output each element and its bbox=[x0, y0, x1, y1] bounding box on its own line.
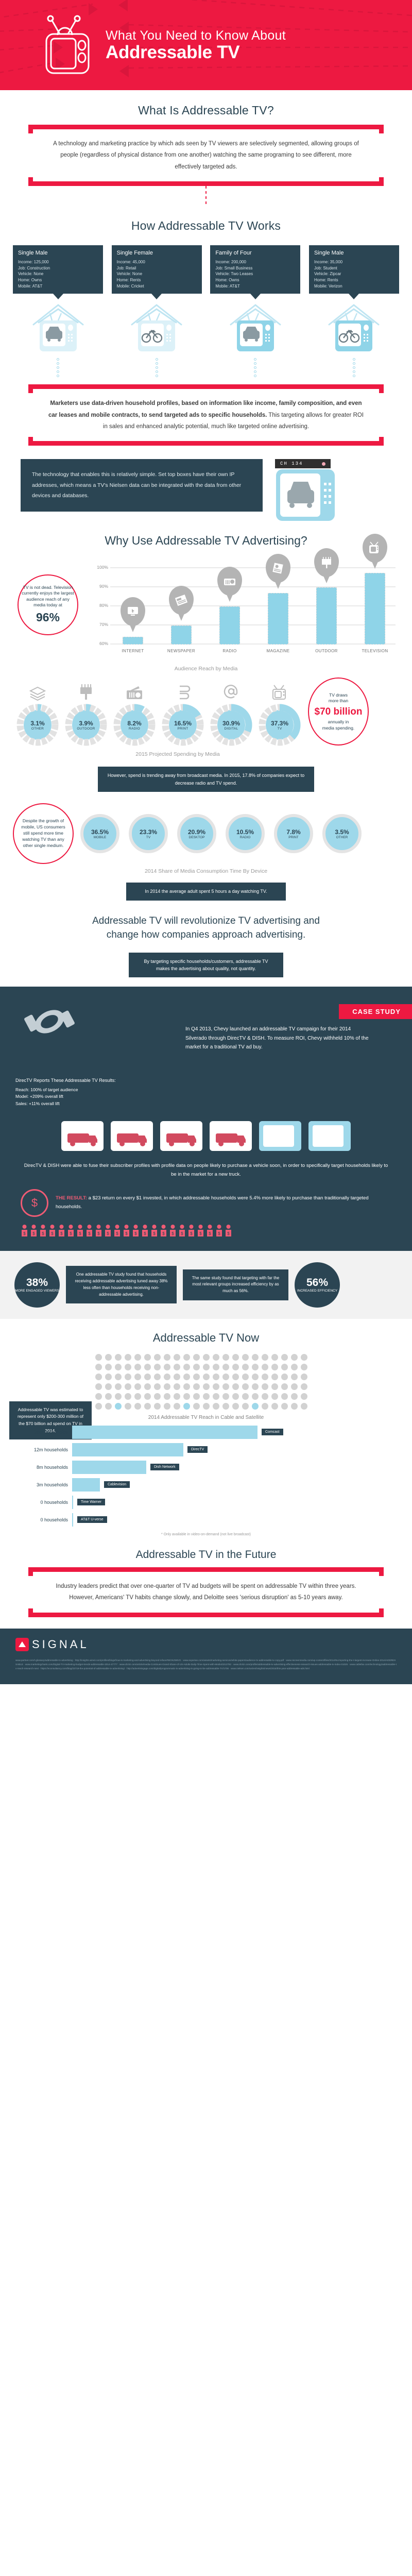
page-footer: SIGNAL www.partner.com/t-glossary/addres… bbox=[0, 1629, 412, 1684]
directv-reach: Reach: 100% of target audience bbox=[15, 1087, 185, 1094]
tv-with-truck-icon bbox=[60, 1120, 105, 1152]
dollar-person-icon: $ bbox=[225, 1224, 232, 1236]
dollar-person-icon: $ bbox=[141, 1224, 149, 1236]
donut-outdoor: 3.9%OUTDOOR bbox=[63, 677, 109, 746]
magazine-icon bbox=[266, 554, 290, 583]
efficiency-label: INCREASED EFFICIENCY bbox=[297, 1289, 337, 1293]
profile-vehicle: Vehicle: Zipcar bbox=[314, 271, 394, 277]
hbar-row: 0 households Time Warner bbox=[15, 1494, 397, 1511]
hbar-label: 0 households bbox=[15, 1517, 72, 1522]
why-section-title: Why Use Addressable TV Advertising? bbox=[0, 527, 412, 548]
svg-text:$: $ bbox=[23, 1231, 26, 1236]
marketers-bracket: Marketers use data-driven household prof… bbox=[28, 384, 384, 446]
donut-ring: 3.1%OTHER bbox=[16, 704, 59, 746]
tv-draws-line1: TV draws bbox=[329, 692, 348, 698]
brand-name: SIGNAL bbox=[32, 1638, 89, 1651]
dollar-cycle-icon: $ bbox=[21, 1189, 48, 1217]
retro-tv-icon bbox=[40, 14, 94, 76]
newspaper-icon bbox=[169, 586, 194, 615]
hbar-label: 8m households bbox=[15, 1465, 72, 1470]
directv-sales: Sales: +11% overall lift bbox=[15, 1100, 185, 1108]
hbar-row: 20m households Comcast bbox=[15, 1423, 397, 1441]
dollar-person-icon: $ bbox=[85, 1224, 93, 1236]
dollar-person-icon: $ bbox=[48, 1224, 56, 1236]
layers-icon bbox=[29, 677, 46, 701]
svg-text:$: $ bbox=[60, 1231, 63, 1236]
engaged-viewers-stat: 38% MORE ENGAGED VIEWERS bbox=[14, 1262, 60, 1308]
bar-television bbox=[365, 573, 385, 645]
svg-text:$: $ bbox=[181, 1231, 183, 1236]
decrease-spend-note: However, spend is trending away from bro… bbox=[98, 767, 314, 792]
hbar-label: 12m households bbox=[15, 1447, 72, 1452]
donut-ring: 37.3%TV bbox=[259, 704, 301, 746]
share-mobile: 36.5%MOBILE bbox=[78, 814, 122, 853]
share-value: 3.5% bbox=[335, 828, 349, 836]
bar-outdoor bbox=[316, 587, 337, 645]
donut-digital: 30.9%DIGITAL bbox=[208, 677, 254, 746]
dollar-person-icon: $ bbox=[215, 1224, 223, 1236]
tv-draws-line3: annually in bbox=[328, 719, 349, 725]
engaged-pct: 38% bbox=[26, 1277, 48, 1289]
household-card: Single Male Income: 125,000 Job: Constru… bbox=[13, 245, 103, 377]
share-value: 20.9% bbox=[188, 828, 205, 836]
billboard-icon bbox=[77, 677, 95, 701]
tv-draws-callout: TV draws more than $70 billion annually … bbox=[308, 677, 369, 745]
efficiency-note-left: One addressable TV study found that hous… bbox=[66, 1266, 177, 1303]
profile-job: Job: Construction bbox=[18, 265, 98, 272]
share-label: PRINT bbox=[288, 836, 299, 839]
bar-plot-area: 100% 90% 80% 70% 60% bbox=[93, 567, 396, 645]
tv-with-car-icon bbox=[275, 468, 336, 524]
svg-text:$: $ bbox=[125, 1231, 128, 1236]
profile-mobile: Mobile: AT&T bbox=[215, 283, 295, 290]
dollar-person-icon: $ bbox=[76, 1224, 84, 1236]
dollar-person-icon: $ bbox=[67, 1224, 75, 1236]
dollar-person-icon: $ bbox=[160, 1224, 167, 1236]
directv-model: Model: +209% overall lift bbox=[15, 1093, 185, 1100]
print-icon bbox=[175, 677, 191, 701]
hbar-fill bbox=[72, 1513, 73, 1527]
channel-label: CH 134 bbox=[280, 461, 303, 466]
result-text: THE RESULT: a $23 return on every $1 inv… bbox=[56, 1194, 391, 1211]
audience-reach-chart: TV is not dead. Television currently enj… bbox=[10, 553, 402, 664]
engaged-label: MORE ENGAGED VIEWERS bbox=[15, 1289, 59, 1293]
tv-with-truck-icon bbox=[110, 1120, 154, 1152]
hbar-row: 3m households Cablevision bbox=[15, 1476, 397, 1494]
y-tick-90: 90% bbox=[93, 584, 108, 589]
hbar-fill bbox=[72, 1461, 146, 1474]
svg-text:$: $ bbox=[134, 1231, 137, 1236]
profile-income: Income: 35,000 bbox=[314, 259, 394, 265]
media-consumption-row: Despite the growth of mobile, US consume… bbox=[0, 792, 412, 864]
dollar-person-icon: $ bbox=[150, 1224, 158, 1236]
dollar-person-icon: $ bbox=[197, 1224, 204, 1236]
svg-text:$: $ bbox=[162, 1231, 165, 1236]
household-profile: Single Male Income: 35,000 Job: Student … bbox=[309, 245, 399, 294]
result-row: $ THE RESULT: a $23 return on every $1 i… bbox=[0, 1179, 412, 1217]
signal-dots bbox=[254, 358, 256, 377]
tech-callout: The technology that enables this is rela… bbox=[21, 459, 263, 511]
svg-text:$: $ bbox=[209, 1231, 211, 1236]
tv-draws-value: $70 billion bbox=[315, 705, 363, 719]
dollar-person-icon: $ bbox=[187, 1224, 195, 1236]
share-label: MOBILE bbox=[94, 836, 107, 839]
hbar-provider: Comcast bbox=[262, 1429, 283, 1435]
svg-text:$: $ bbox=[51, 1231, 54, 1236]
y-tick-60: 60% bbox=[93, 641, 108, 646]
tv-with-truck-icon bbox=[209, 1120, 253, 1152]
dollar-person-icon: $ bbox=[206, 1224, 214, 1236]
tv-blank-icon bbox=[258, 1120, 302, 1152]
future-title: Addressable TV in the Future bbox=[0, 1536, 412, 1564]
page-header: What You Need to Know About Addressable … bbox=[0, 0, 412, 90]
what-is-body: A technology and marketing practice by w… bbox=[44, 135, 368, 176]
svg-text:$: $ bbox=[144, 1231, 146, 1236]
profile-job: Job: Student bbox=[314, 265, 394, 272]
spend-caption: 2015 Projected Spending by Media bbox=[0, 751, 412, 757]
y-tick-80: 80% bbox=[93, 603, 108, 608]
profile-income: Income: 200,000 bbox=[215, 259, 295, 265]
svg-text:$: $ bbox=[199, 1231, 202, 1236]
x-label-magazine: MAGAZINE bbox=[260, 649, 296, 653]
hbar-label: 3m households bbox=[15, 1482, 72, 1487]
efficiency-band: 38% MORE ENGAGED VIEWERS One addressable… bbox=[0, 1251, 412, 1319]
x-label-outdoor: OUTDOOR bbox=[308, 649, 345, 653]
profile-mobile: Mobile: Verizon bbox=[314, 283, 394, 290]
hbar-fill bbox=[72, 1443, 183, 1456]
bar-radio bbox=[219, 606, 240, 645]
bar-newspaper bbox=[171, 625, 192, 645]
svg-text:$: $ bbox=[153, 1231, 156, 1236]
mobile-growth-callout: Despite the growth of mobile, US consume… bbox=[13, 803, 74, 864]
hbar-row: 0 households AT&T U-verse bbox=[15, 1511, 397, 1529]
svg-text:$: $ bbox=[107, 1231, 109, 1236]
share-value: 36.5% bbox=[91, 828, 109, 836]
profile-name: Single Female bbox=[117, 249, 197, 258]
profile-name: Family of Four bbox=[215, 249, 295, 258]
result-head: THE RESULT: bbox=[56, 1195, 87, 1201]
statement-sub-note: By targeting specific households/custome… bbox=[129, 953, 283, 978]
what-is-bracket: A technology and marketing practice by w… bbox=[28, 125, 384, 186]
record-dot-icon bbox=[322, 462, 325, 466]
donut-other: 3.1%OTHER bbox=[14, 677, 61, 746]
dollar-person-icon: $ bbox=[104, 1224, 112, 1236]
house-with-tv-icon bbox=[225, 302, 286, 356]
case-study-section: CASE STUDY DirecTV Reports These Address… bbox=[0, 987, 412, 1250]
how-works-title: How Addressable TV Works bbox=[0, 206, 412, 240]
case-study-body: In Q4 2013, Chevy launched an addressabl… bbox=[185, 1025, 371, 1107]
tv-with-truck-icon bbox=[159, 1120, 203, 1152]
header-subtitle: What You Need to Know About bbox=[106, 28, 286, 43]
share-label: RADIO bbox=[240, 836, 251, 839]
share-desktop: 20.9%DESKTOP bbox=[175, 814, 219, 853]
hbar-provider: Cablevision bbox=[104, 1481, 130, 1488]
profile-home: Home: Owns bbox=[215, 277, 295, 283]
reach-bar-chart: 20m households Comcast 12m households Di… bbox=[15, 1423, 397, 1536]
household-card: Family of Four Income: 200,000 Job: Smal… bbox=[210, 245, 300, 377]
case-study-caption: DirecTV & DISH were able to fuse their s… bbox=[0, 1152, 412, 1179]
hbar-label: 20m households bbox=[15, 1430, 72, 1435]
at-sign-icon bbox=[222, 677, 240, 701]
reach-chart-footnote: * Only available in video-on-demand (not… bbox=[15, 1529, 397, 1536]
share-tv: 23.3%TV bbox=[126, 814, 170, 853]
profile-income: Income: 125,000 bbox=[18, 259, 98, 265]
tv-blank-icon bbox=[307, 1120, 352, 1152]
house-with-tv-icon bbox=[323, 302, 385, 356]
infographic-page: What You Need to Know About Addressable … bbox=[0, 0, 412, 1684]
big-statement: Addressable TV will revolutionize TV adv… bbox=[0, 901, 412, 947]
signal-dots bbox=[156, 358, 158, 377]
svg-text:$: $ bbox=[97, 1231, 100, 1236]
household-profile: Family of Four Income: 200,000 Job: Smal… bbox=[210, 245, 300, 294]
dollar-person-icon: $ bbox=[30, 1224, 38, 1236]
tv-row bbox=[0, 1108, 412, 1152]
house-with-tv-icon bbox=[27, 302, 89, 356]
profile-vehicle: Vehicle: None bbox=[117, 271, 197, 277]
hbar-fill bbox=[72, 1478, 100, 1492]
directv-results: DirecTV Reports These Addressable TV Res… bbox=[15, 1077, 185, 1107]
svg-text:$: $ bbox=[88, 1231, 91, 1236]
avg-adult-note: In 2014 the average adult spent 5 hours … bbox=[126, 883, 286, 900]
computer-icon bbox=[121, 597, 145, 626]
hbar-row: 12m households DirecTV bbox=[15, 1441, 397, 1459]
profile-mobile: Mobile: AT&T bbox=[18, 283, 98, 290]
share-label: TV bbox=[146, 836, 150, 839]
tech-section: The technology that enables this is rela… bbox=[21, 459, 391, 527]
future-bracket: Industry leaders predict that over one-q… bbox=[28, 1567, 384, 1617]
profile-mobile: Mobile: Cricket bbox=[117, 283, 197, 290]
profile-income: Income: 45,000 bbox=[117, 259, 197, 265]
connector-dash bbox=[205, 186, 207, 206]
case-study-tag: CASE STUDY bbox=[339, 1004, 412, 1019]
donut-ring: 30.9%DIGITAL bbox=[210, 704, 252, 746]
television-icon bbox=[271, 677, 288, 701]
svg-text:$: $ bbox=[171, 1231, 174, 1236]
tv-draws-line4: media spending. bbox=[322, 725, 354, 731]
household-profile: Single Female Income: 45,000 Job: Retail… bbox=[112, 245, 202, 294]
svg-text:$: $ bbox=[70, 1231, 72, 1236]
tech-body: The technology that enables this is rela… bbox=[32, 471, 241, 499]
now-title: Addressable TV Now bbox=[0, 1319, 412, 1349]
profile-job: Job: Small Business bbox=[215, 265, 295, 272]
satellite-icon bbox=[15, 998, 93, 1045]
share-print: 7.8%PRINT bbox=[271, 814, 316, 853]
dollar-person-icon: $ bbox=[95, 1224, 102, 1236]
hbar-provider: DirecTV bbox=[187, 1446, 208, 1453]
billboard-icon bbox=[314, 548, 339, 577]
y-tick-100: 100% bbox=[93, 565, 108, 570]
radio-icon bbox=[125, 677, 144, 701]
dollar-person-icon: $ bbox=[132, 1224, 140, 1236]
profile-home: Home: Rents bbox=[117, 277, 197, 283]
donut-radio: 8.2%RADIO bbox=[111, 677, 158, 746]
hbar-provider: AT&T U-verse bbox=[77, 1516, 107, 1523]
hbar-provider: Dish Network bbox=[150, 1464, 179, 1470]
share-other: 3.5%OTHER bbox=[320, 814, 364, 853]
brand-logo[interactable]: SIGNAL bbox=[15, 1638, 397, 1651]
signal-mark-icon bbox=[15, 1638, 29, 1651]
x-label-internet: INTERNET bbox=[115, 649, 151, 653]
profile-home: Home: Owns bbox=[18, 277, 98, 283]
x-label-television: TELEVISION bbox=[357, 649, 393, 653]
spend-donut-row: 3.1%OTHER 3.9%OUTDOOR 8.2%RADIO 16.5%PRI… bbox=[0, 672, 412, 746]
svg-text:$: $ bbox=[42, 1231, 44, 1236]
svg-text:$: $ bbox=[116, 1231, 118, 1236]
statement-line1: Addressable TV will revolutionize TV adv… bbox=[31, 914, 381, 928]
household-card: Single Male Income: 35,000 Job: Student … bbox=[309, 245, 399, 377]
increased-efficiency-stat: 56% INCREASED EFFICIENCY bbox=[295, 1262, 340, 1308]
share-label: DESKTOP bbox=[189, 836, 205, 839]
tv-not-dead-value: 96% bbox=[36, 609, 60, 625]
profile-vehicle: Vehicle: None bbox=[18, 271, 98, 277]
hbar-fill bbox=[72, 1426, 257, 1439]
result-body: a $23 return on every $1 invested, in wh… bbox=[56, 1195, 369, 1210]
share-value: 7.8% bbox=[286, 828, 300, 836]
svg-text:$: $ bbox=[218, 1231, 220, 1236]
bar-internet bbox=[123, 637, 143, 645]
donut-print: 16.5%PRINT bbox=[160, 677, 206, 746]
tv-not-dead-text: TV is not dead. Television currently enj… bbox=[22, 585, 74, 608]
x-label-newspaper: NEWSPAPER bbox=[163, 649, 199, 653]
house-with-tv-icon bbox=[126, 302, 187, 356]
svg-text:$: $ bbox=[190, 1231, 193, 1236]
donut-ring: 3.9%OUTDOOR bbox=[65, 704, 107, 746]
header-title: Addressable TV bbox=[106, 43, 286, 62]
household-dot-grid bbox=[95, 1354, 317, 1410]
people-row: $ $ $ $ $ $ $ $ $ $ $ $ $ $ $ $ $ $ $ $ … bbox=[0, 1217, 412, 1236]
tv-draws-line2: more than bbox=[329, 698, 348, 704]
signal-dots bbox=[57, 358, 59, 377]
radio-icon bbox=[217, 567, 242, 596]
dollar-person-icon: $ bbox=[169, 1224, 177, 1236]
tv-not-dead-callout: TV is not dead. Television currently enj… bbox=[18, 574, 78, 635]
donut-ring: 8.2%RADIO bbox=[113, 704, 156, 746]
marketers-note: Marketers use data-driven household prof… bbox=[44, 395, 368, 435]
x-label-radio: RADIO bbox=[212, 649, 248, 653]
efficiency-note-right: The same study found that targeting with… bbox=[183, 1269, 288, 1300]
svg-text:$: $ bbox=[32, 1231, 35, 1236]
signal-dots bbox=[353, 358, 355, 377]
dollar-person-icon: $ bbox=[21, 1224, 28, 1236]
share-value: 23.3% bbox=[140, 828, 157, 836]
share-value: 10.5% bbox=[236, 828, 254, 836]
household-card: Single Female Income: 45,000 Job: Retail… bbox=[112, 245, 202, 377]
svg-text:$: $ bbox=[227, 1231, 230, 1236]
consumption-caption: 2014 Share of Media Consumption Time By … bbox=[0, 868, 412, 874]
hbar-fill bbox=[72, 1496, 73, 1509]
hbar-provider: Time Warner bbox=[77, 1499, 105, 1505]
what-is-title: What Is Addressable TV? bbox=[0, 90, 412, 125]
bar-magazine bbox=[268, 593, 288, 645]
profile-name: Single Male bbox=[18, 249, 98, 258]
audience-reach-caption: Audience Reach by Media bbox=[0, 666, 412, 672]
profile-job: Job: Retail bbox=[117, 265, 197, 272]
household-row: Single Male Income: 125,000 Job: Constru… bbox=[0, 240, 412, 377]
dollar-person-icon: $ bbox=[58, 1224, 65, 1236]
share-radio: 10.5%RADIO bbox=[223, 814, 267, 853]
television-icon bbox=[363, 534, 387, 563]
profile-home: Home: Rents bbox=[314, 277, 394, 283]
profile-name: Single Male bbox=[314, 249, 394, 258]
directv-title: DirecTV Reports These Addressable TV Res… bbox=[15, 1077, 185, 1084]
dollar-person-icon: $ bbox=[178, 1224, 186, 1236]
sources-list: www.partner.com/t-glossary/addressable-t… bbox=[15, 1658, 397, 1671]
donut-tv: 37.3%TV bbox=[256, 677, 303, 746]
household-profile: Single Male Income: 125,000 Job: Constru… bbox=[13, 245, 103, 294]
channel-badge: CH 134 bbox=[275, 459, 331, 468]
share-label: OTHER bbox=[336, 836, 348, 839]
y-tick-70: 70% bbox=[93, 622, 108, 627]
hbar-label: 0 households bbox=[15, 1500, 72, 1505]
future-body: Industry leaders predict that over one-q… bbox=[44, 1578, 368, 1607]
efficiency-pct: 56% bbox=[306, 1277, 328, 1289]
dollar-person-icon: $ bbox=[113, 1224, 121, 1236]
svg-text:$: $ bbox=[79, 1231, 81, 1236]
dollar-person-icon: $ bbox=[39, 1224, 47, 1236]
dollar-person-icon: $ bbox=[123, 1224, 130, 1236]
donut-ring: 16.5%PRINT bbox=[162, 704, 204, 746]
profile-vehicle: Vehicle: Two Leases bbox=[215, 271, 295, 277]
statement-line2: change how companies approach advertisin… bbox=[31, 928, 381, 942]
hbar-row: 8m households Dish Network bbox=[15, 1459, 397, 1476]
